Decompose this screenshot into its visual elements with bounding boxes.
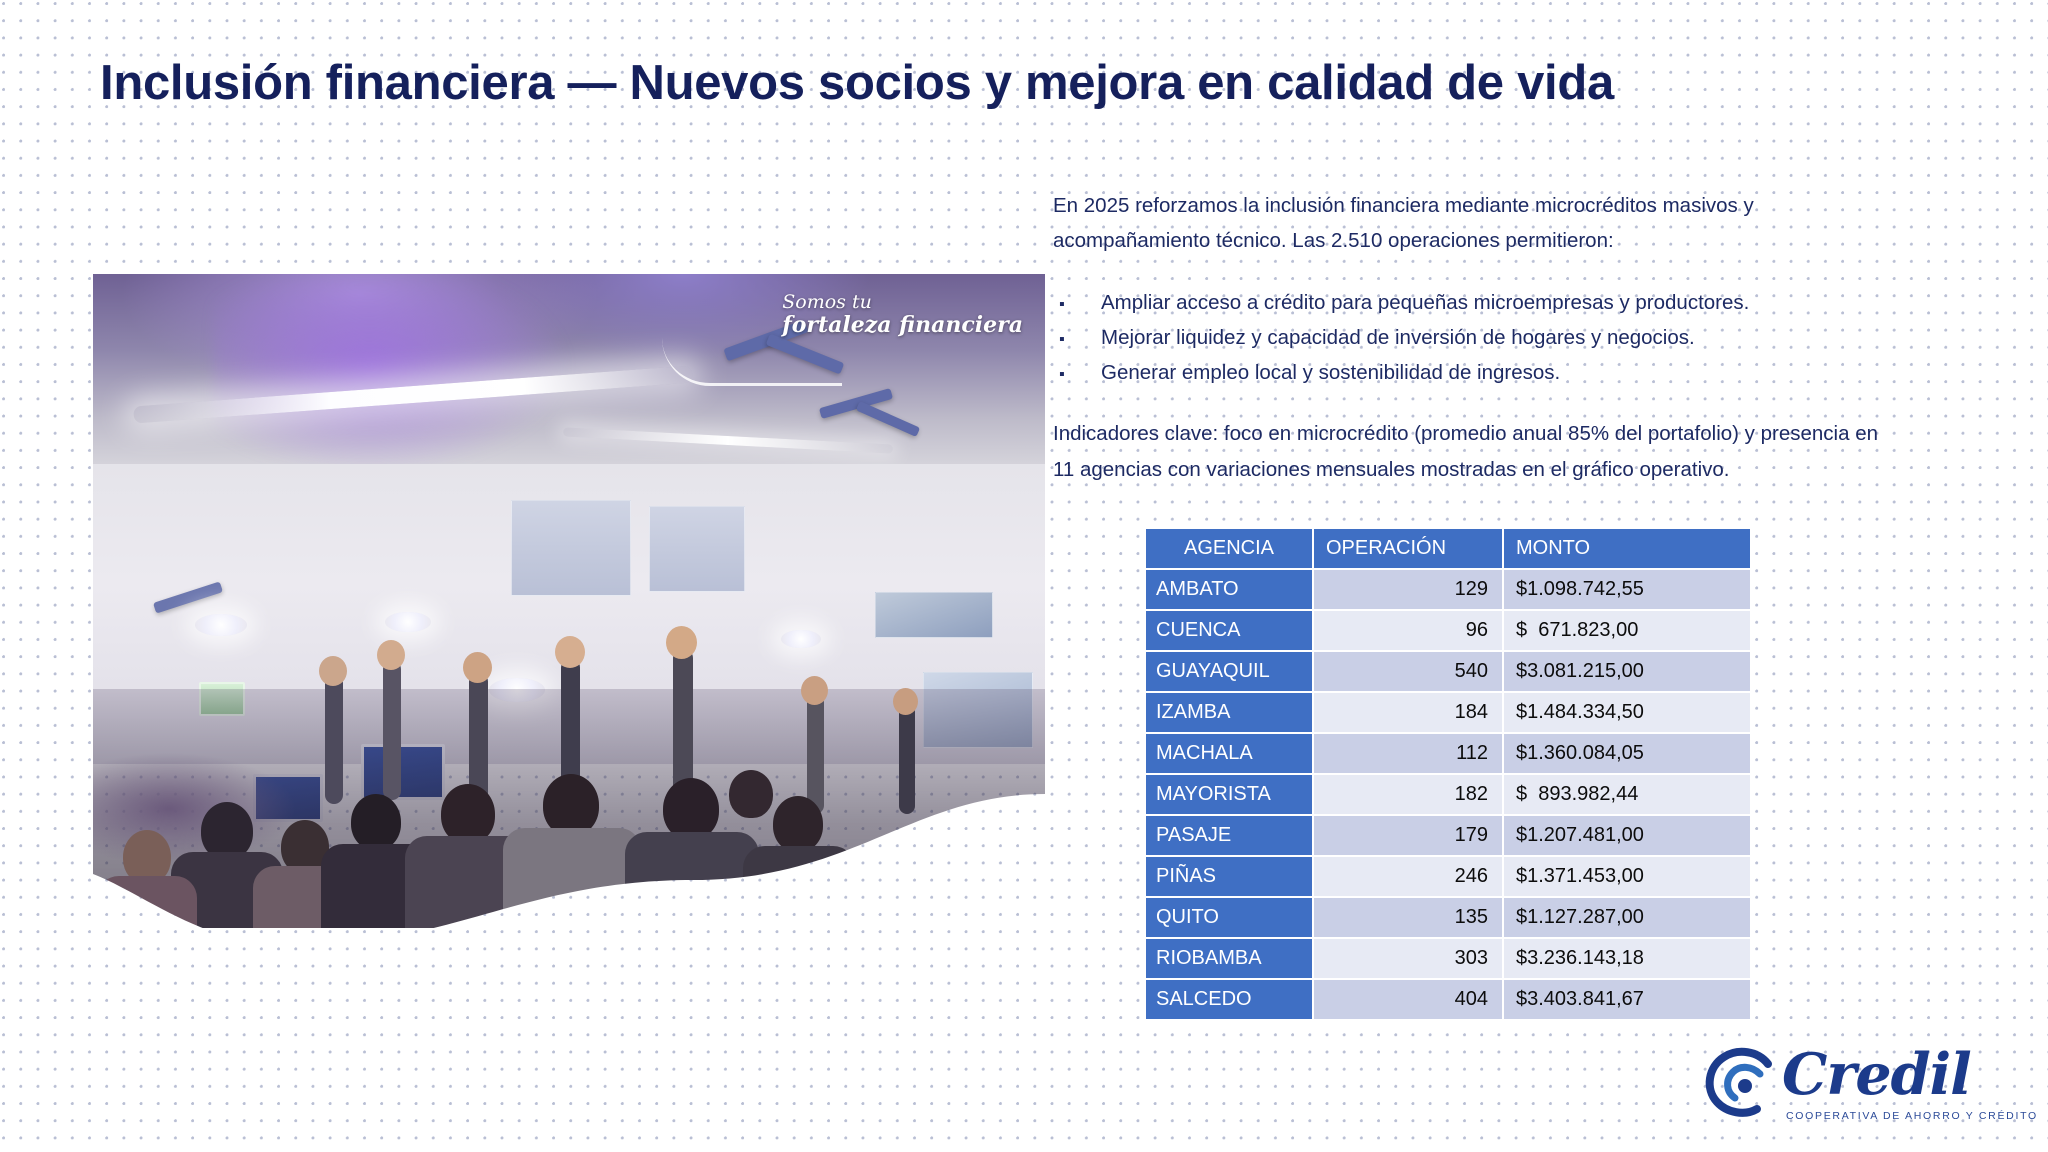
table-row: RIOBAMBA303$3.236.143,18 (1145, 938, 1751, 979)
cell-monto: $1.098.742,55 (1503, 569, 1751, 610)
cell-agencia: MACHALA (1145, 733, 1313, 774)
benefits-bullet-list: ▪ Ampliar acceso a crédito para pequeñas… (1053, 285, 1898, 391)
table-row: GUAYAQUIL540$3.081.215,00 (1145, 651, 1751, 692)
column-header-monto: MONTO (1503, 528, 1751, 569)
photo-wall-panel (649, 506, 745, 592)
column-header-agencia: AGENCIA (1145, 528, 1313, 569)
table-row: PASAJE179$1.207.481,00 (1145, 815, 1751, 856)
credil-logo: Credil COOPERATIVA DE AHORRO Y CRÉDITO (1700, 1040, 2000, 1136)
cell-operacion: 246 (1313, 856, 1503, 897)
photo-tagline: Somos tu fortaleza financiera (782, 292, 1023, 338)
list-item-label: Generar empleo local y sostenibilidad de… (1101, 355, 1898, 390)
intro-paragraph: En 2025 reforzamos la inclusión financie… (1053, 188, 1898, 259)
list-item-label: Mejorar liquidez y capacidad de inversió… (1101, 320, 1898, 355)
bullet-marker-icon: ▪ (1053, 361, 1101, 389)
cell-monto: $1.484.334,50 (1503, 692, 1751, 733)
table-row: IZAMBA184$1.484.334,50 (1145, 692, 1751, 733)
photo-tagline-line1: Somos tu (782, 292, 1023, 313)
table-row: QUITO135$1.127.287,00 (1145, 897, 1751, 938)
credil-swirl-icon (1700, 1044, 1784, 1128)
photo-spotlight (385, 612, 431, 632)
cell-agencia: SALCEDO (1145, 979, 1313, 1020)
bullet-marker-icon: ▪ (1053, 291, 1101, 319)
photo-wall-panel (511, 500, 631, 596)
cell-agencia: PASAJE (1145, 815, 1313, 856)
photo-spotlight (781, 630, 821, 648)
cell-operacion: 184 (1313, 692, 1503, 733)
photo-wall-panel (875, 592, 993, 638)
table-row: AMBATO129$1.098.742,55 (1145, 569, 1751, 610)
column-header-operacion: OPERACIÓN (1313, 528, 1503, 569)
cell-operacion: 96 (1313, 610, 1503, 651)
cell-monto: $3.081.215,00 (1503, 651, 1751, 692)
table-row: SALCEDO404$3.403.841,67 (1145, 979, 1751, 1020)
cell-agencia: PIÑAS (1145, 856, 1313, 897)
table-row: CUENCA96$ 671.823,00 (1145, 610, 1751, 651)
cell-monto: $1.127.287,00 (1503, 897, 1751, 938)
table-body: AMBATO129$1.098.742,55CUENCA96$ 671.823,… (1145, 569, 1751, 1020)
cell-agencia: CUENCA (1145, 610, 1313, 651)
cell-operacion: 135 (1313, 897, 1503, 938)
cell-monto: $ 893.982,44 (1503, 774, 1751, 815)
list-item: ▪ Ampliar acceso a crédito para pequeñas… (1053, 285, 1898, 320)
photo-spotlight (195, 614, 247, 636)
cell-operacion: 179 (1313, 815, 1503, 856)
body-copy: En 2025 reforzamos la inclusión financie… (1053, 188, 1898, 513)
hero-photo: Somos tu fortaleza financiera (93, 274, 1045, 928)
slide-canvas: Inclusión financiera — Nuevos socios y m… (0, 0, 2048, 1152)
cell-agencia: RIOBAMBA (1145, 938, 1313, 979)
closing-paragraph: Indicadores clave: foco en microcrédito … (1053, 416, 1898, 487)
cell-agencia: IZAMBA (1145, 692, 1313, 733)
agency-operations-table: AGENCIA OPERACIÓN MONTO AMBATO129$1.098.… (1145, 528, 1751, 1020)
list-item: ▪ Mejorar liquidez y capacidad de invers… (1053, 320, 1898, 355)
credil-tagline: COOPERATIVA DE AHORRO Y CRÉDITO (1786, 1110, 2038, 1122)
cell-operacion: 112 (1313, 733, 1503, 774)
table-row: MACHALA112$1.360.084,05 (1145, 733, 1751, 774)
cell-operacion: 540 (1313, 651, 1503, 692)
cell-monto: $3.236.143,18 (1503, 938, 1751, 979)
photo-tagline-swoosh (662, 338, 842, 386)
cell-monto: $ 671.823,00 (1503, 610, 1751, 651)
cell-monto: $1.371.453,00 (1503, 856, 1751, 897)
table-header-row: AGENCIA OPERACIÓN MONTO (1145, 528, 1751, 569)
credil-wordmark: Credil (1782, 1046, 1971, 1103)
cell-monto: $1.360.084,05 (1503, 733, 1751, 774)
cell-operacion: 303 (1313, 938, 1503, 979)
cell-agencia: GUAYAQUIL (1145, 651, 1313, 692)
cell-operacion: 404 (1313, 979, 1503, 1020)
page-title: Inclusión financiera — Nuevos socios y m… (100, 56, 1960, 112)
cell-agencia: MAYORISTA (1145, 774, 1313, 815)
cell-operacion: 129 (1313, 569, 1503, 610)
list-item: ▪ Generar empleo local y sostenibilidad … (1053, 355, 1898, 390)
table-header: AGENCIA OPERACIÓN MONTO (1145, 528, 1751, 569)
bullet-marker-icon: ▪ (1053, 326, 1101, 354)
table-row: MAYORISTA182$ 893.982,44 (1145, 774, 1751, 815)
photo-tagline-line2: fortaleza financiera (782, 313, 1023, 338)
cell-monto: $3.403.841,67 (1503, 979, 1751, 1020)
cell-agencia: QUITO (1145, 897, 1313, 938)
table-row: PIÑAS246$1.371.453,00 (1145, 856, 1751, 897)
hero-photo-image (93, 274, 1045, 928)
list-item-label: Ampliar acceso a crédito para pequeñas m… (1101, 285, 1898, 320)
cell-monto: $1.207.481,00 (1503, 815, 1751, 856)
cell-operacion: 182 (1313, 774, 1503, 815)
cell-agencia: AMBATO (1145, 569, 1313, 610)
